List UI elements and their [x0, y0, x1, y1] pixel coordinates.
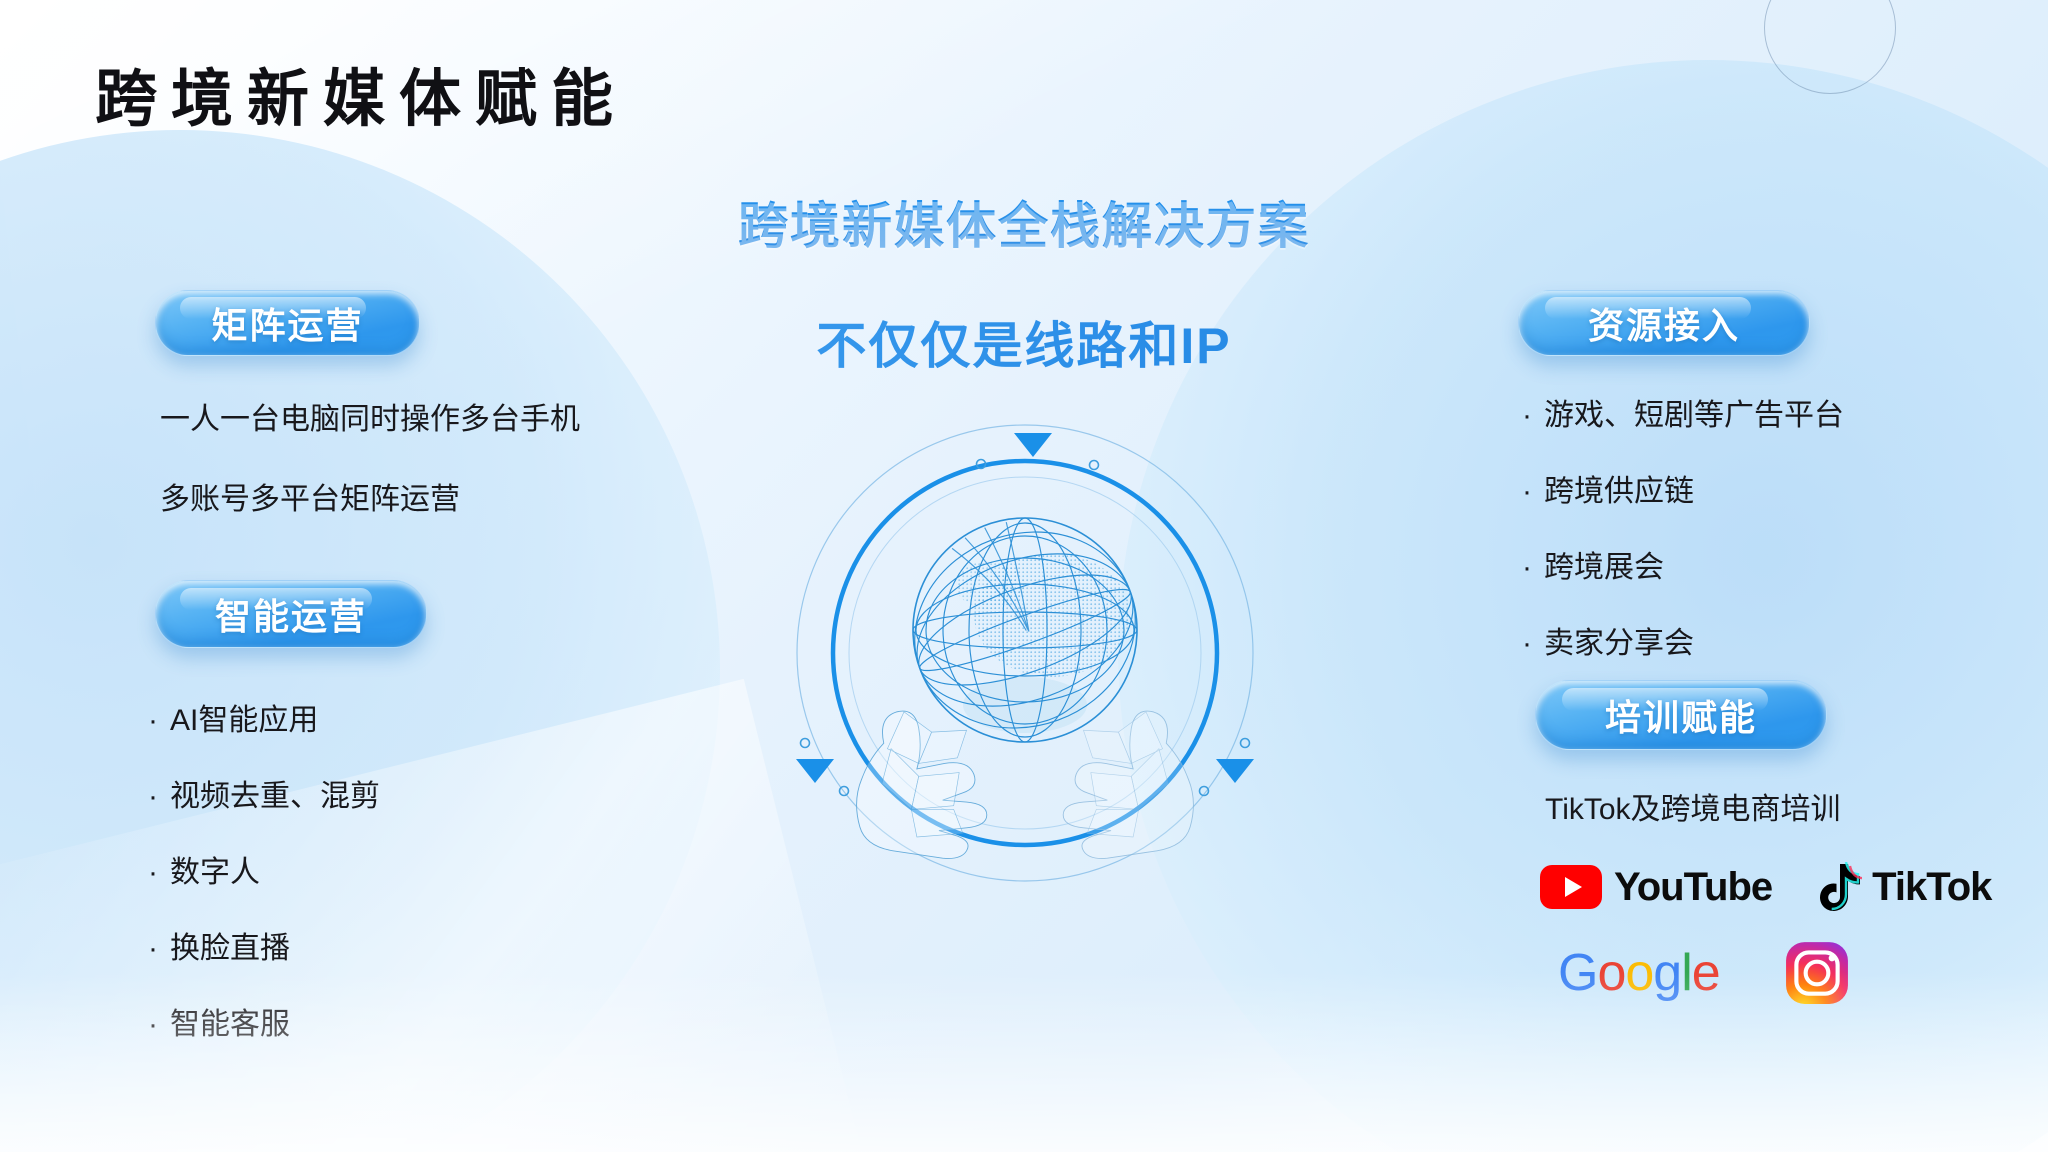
page-title: 跨境新媒体赋能 [95, 48, 627, 138]
tiktok-logo: TikTok [1818, 862, 1991, 912]
bullet-dot-icon: · [148, 934, 170, 964]
bullet-dot-icon: · [1522, 401, 1544, 431]
decorative-ring-icon [1764, 0, 1896, 94]
slide-root: 跨境新媒体赋能 跨境新媒体全栈解决方案 不仅仅是线路和IP 矩阵运营 一人一台电… [0, 0, 2048, 1152]
bullet-dot-icon: · [148, 706, 170, 736]
list-item-label: AI智能应用 [170, 695, 318, 739]
pill-smart-operations[interactable]: 智能运营 [155, 580, 427, 648]
brand-logo-row-1: YouTube TikTok [1540, 862, 1980, 912]
tiktok-logo-label: TikTok [1872, 865, 1991, 910]
list-item: ·视频去重、混剪 [148, 771, 380, 815]
list-item-label: 视频去重、混剪 [170, 771, 380, 815]
list-item-label: 游戏、短剧等广告平台 [1544, 390, 1844, 434]
pill-smart-operations-label: 智能运营 [215, 588, 367, 640]
list-item: ·跨境展会 [1522, 542, 1844, 586]
pill-resource-access-label: 资源接入 [1588, 297, 1740, 349]
list-item: ·跨境供应链 [1522, 466, 1844, 510]
list-item: ·数字人 [148, 847, 380, 891]
list-item-label: 卖家分享会 [1544, 618, 1694, 662]
bullet-dot-icon: · [1522, 477, 1544, 507]
list-item: ·游戏、短剧等广告平台 [1522, 390, 1844, 434]
list-item: ·卖家分享会 [1522, 618, 1844, 662]
left-text-line-2: 多账号多平台矩阵运营 [160, 485, 460, 515]
list-item-label: 跨境展会 [1544, 542, 1664, 586]
bullet-dot-icon: · [1522, 629, 1544, 659]
list-item: ·AI智能应用 [148, 695, 380, 739]
list-item-label: 数字人 [170, 847, 260, 891]
tiktok-note-icon [1818, 862, 1862, 912]
pill-matrix-operations[interactable]: 矩阵运营 [155, 290, 420, 356]
youtube-play-icon [1540, 865, 1602, 909]
left-text-line-1: 一人一台电脑同时操作多台手机 [160, 405, 580, 435]
right-bullet-list: ·游戏、短剧等广告平台 ·跨境供应链 ·跨境展会 ·卖家分享会 [1522, 390, 1844, 694]
bullet-dot-icon: · [1522, 553, 1544, 583]
pill-training-empowerment-label: 培训赋能 [1605, 689, 1757, 741]
training-description: TikTok及跨境电商培训 [1545, 795, 1841, 825]
bullet-dot-icon: · [148, 858, 170, 888]
youtube-logo: YouTube [1540, 865, 1772, 910]
pill-resource-access[interactable]: 资源接入 [1518, 290, 1810, 356]
list-item: ·换脸直播 [148, 923, 380, 967]
list-item-label: 跨境供应链 [1544, 466, 1694, 510]
pill-matrix-operations-label: 矩阵运营 [211, 297, 363, 349]
background-bottom-fade [0, 972, 2048, 1152]
list-item-label: 换脸直播 [170, 923, 290, 967]
bullet-dot-icon: · [148, 782, 170, 812]
globe-in-hands-illustration [790, 415, 1260, 885]
pill-training-empowerment[interactable]: 培训赋能 [1535, 680, 1827, 750]
center-headline-primary: 跨境新媒体全栈解决方案 [0, 186, 2048, 258]
youtube-logo-label: YouTube [1614, 865, 1772, 910]
